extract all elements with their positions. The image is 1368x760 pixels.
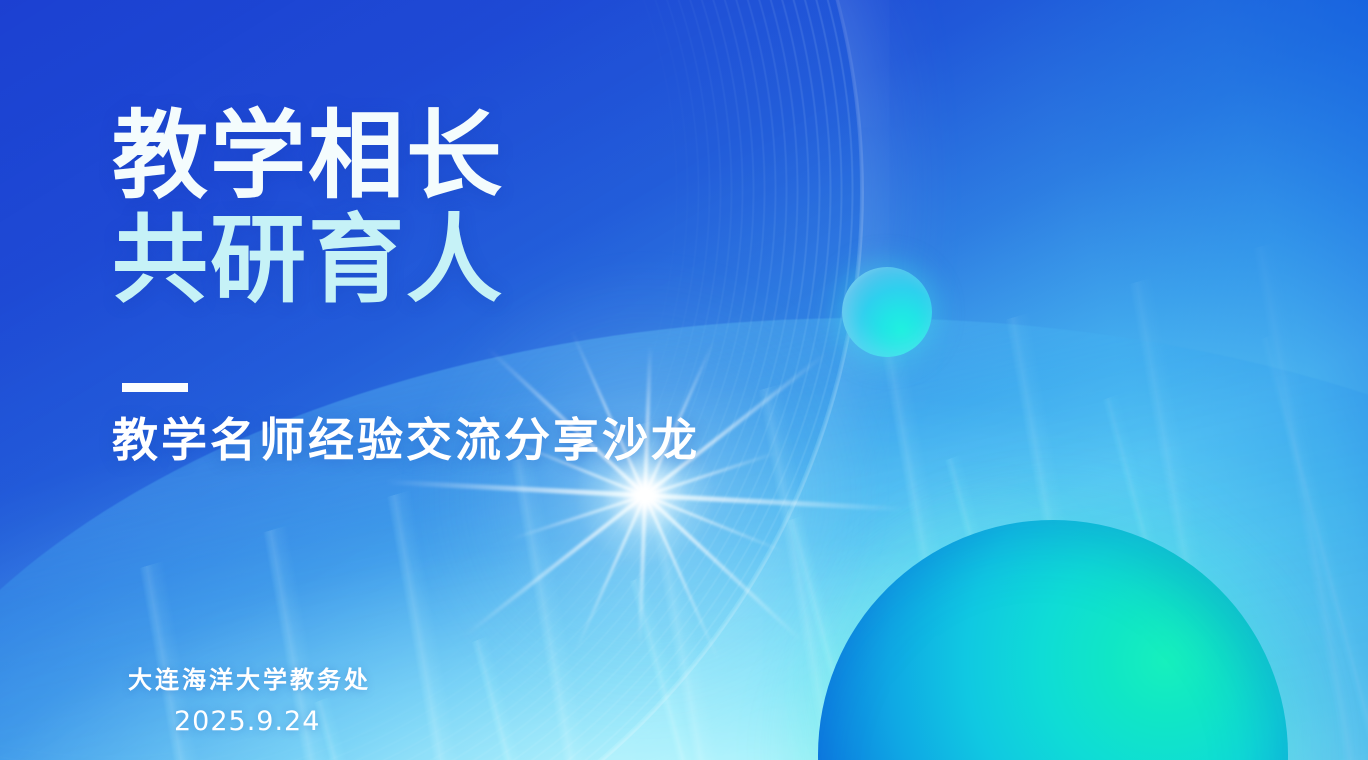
footer-organization: 大连海洋大学教务处	[128, 664, 371, 696]
small-sphere-decoration	[842, 267, 932, 357]
title-divider-rule	[122, 383, 188, 392]
footer-date: 2025.9.24	[174, 706, 371, 738]
title-line-2: 共研育人	[112, 208, 504, 312]
page-title: 教学相长 共研育人	[112, 104, 504, 312]
subtitle: 教学名师经验交流分享沙龙	[112, 410, 700, 470]
title-line-1: 教学相长	[112, 104, 504, 208]
footer-block: 大连海洋大学教务处 2025.9.24	[128, 664, 371, 738]
title-slide: 教学相长 共研育人 教学名师经验交流分享沙龙 大连海洋大学教务处 2025.9.…	[0, 0, 1368, 760]
